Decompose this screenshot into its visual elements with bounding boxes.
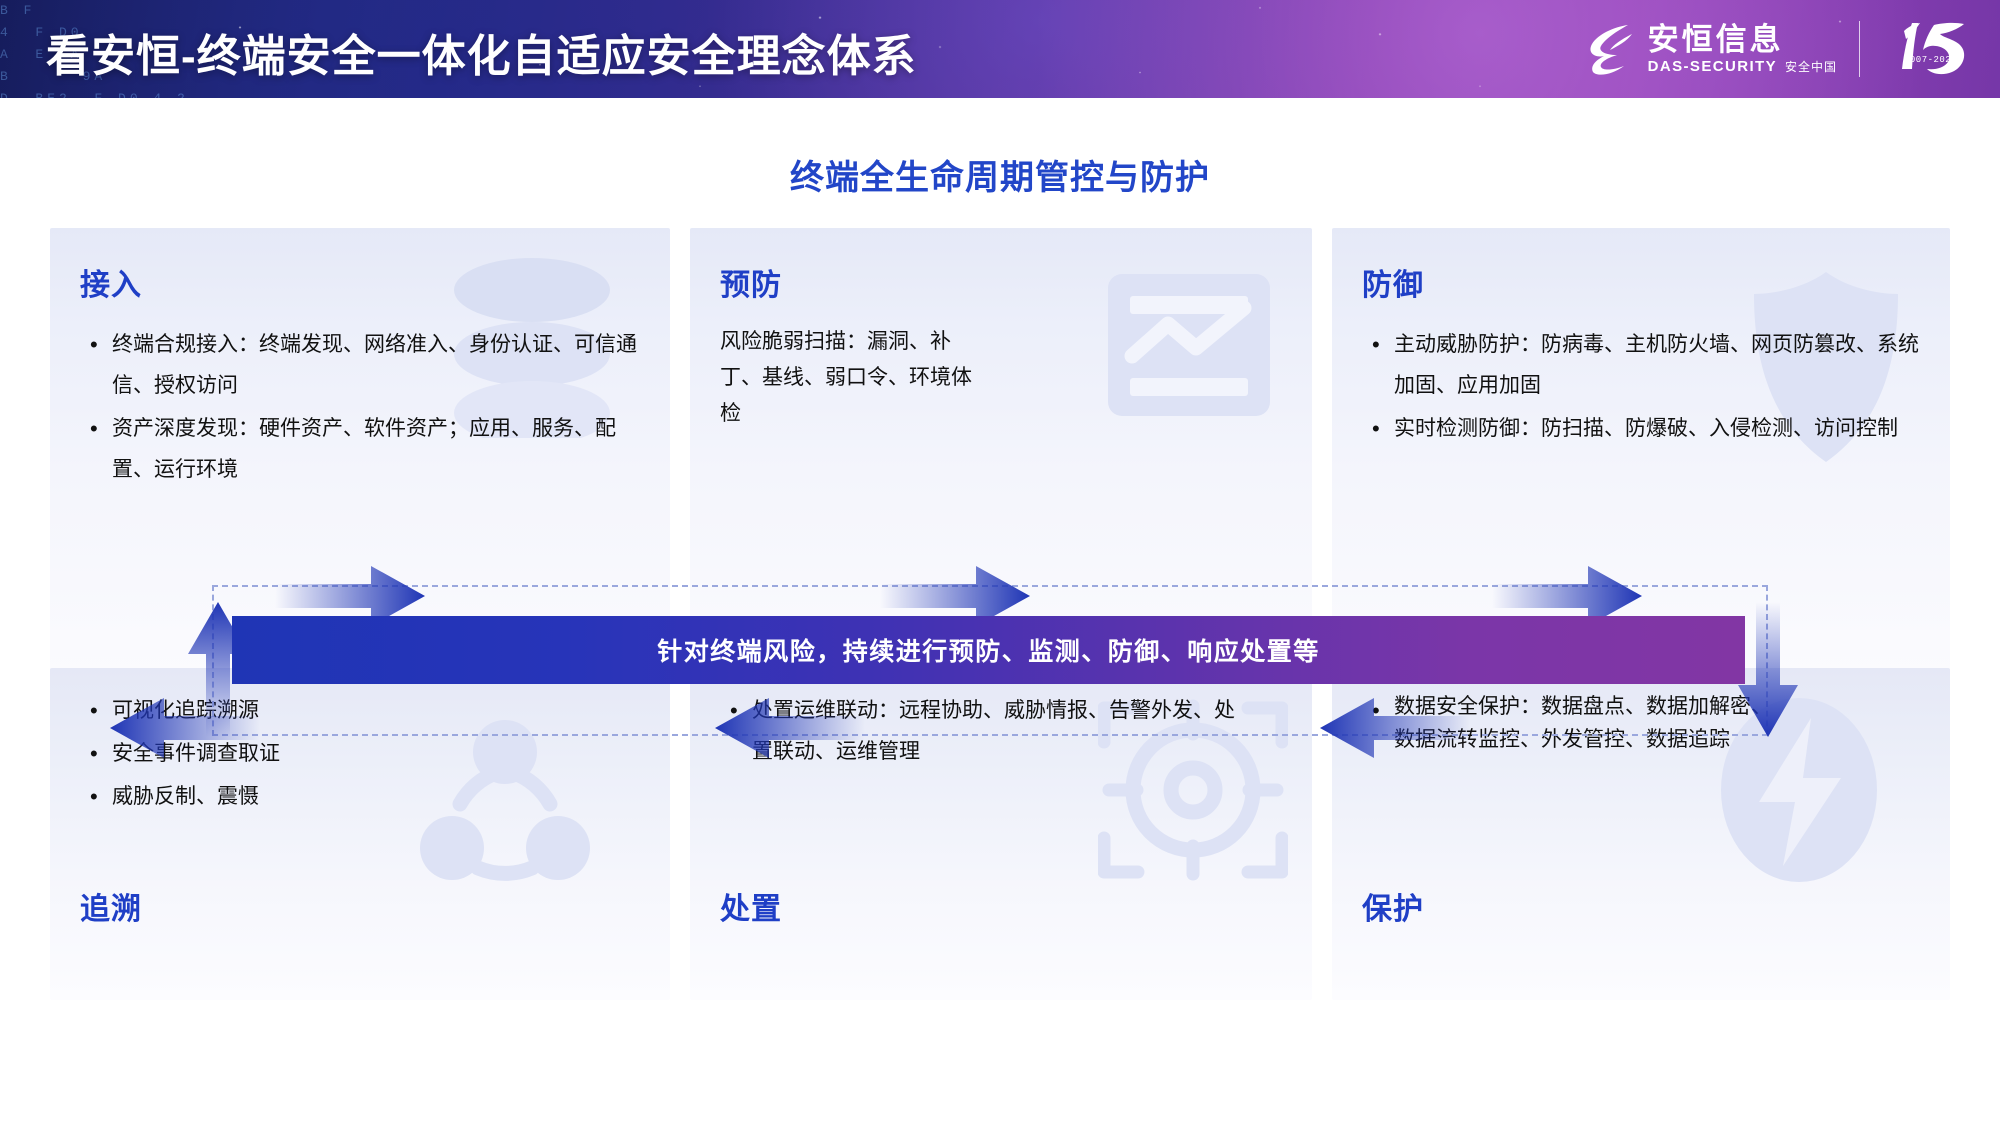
15th-anniversary-icon <box>1882 17 1978 81</box>
brand-logo: 安恒信息 DAS-SECURITY 安全中国 2007-2022 <box>1584 14 1978 84</box>
list-item: 终端合规接入：终端发现、网络准入、身份认证、可信通信、授权访问 <box>68 324 646 406</box>
arrow-left-bottom-2 <box>715 698 865 758</box>
page-title: 看安恒-终端安全一体化自适应安全理念体系 <box>46 20 917 84</box>
das-swirl-logo-icon <box>1584 20 1638 78</box>
continuous-process-banner: 针对终端风险，持续进行预防、监测、防御、响应处置等 <box>232 616 1745 684</box>
list-item: 资产深度发现：硬件资产、软件资产；应用、服务、配置、运行环境 <box>68 408 646 490</box>
card-bullets-defense: 主动威胁防护：防病毒、主机防火墙、网页防篡改、系统加固、应用加固 实时检测防御：… <box>1350 324 1934 451</box>
brand-slogan: 安全中国 <box>1785 58 1837 75</box>
anniversary-badge: 2007-2022 <box>1882 17 1978 81</box>
card-text-prevention: 风险脆弱扫描：漏洞、补丁、基线、弱口令、环境体检 <box>720 324 985 432</box>
logo-divider <box>1859 21 1860 77</box>
list-item: 实时检测防御：防扫描、防爆破、入侵检测、访问控制 <box>1350 408 1934 449</box>
card-heading-traceback: 追溯 <box>80 884 142 928</box>
card-heading-disposal: 处置 <box>720 884 782 928</box>
banner-label: 针对终端风险，持续进行预防、监测、防御、响应处置等 <box>657 632 1320 668</box>
brand-name-cn: 安恒信息 <box>1648 23 1837 57</box>
arrow-left-bottom-3 <box>110 698 260 758</box>
card-bullets-access: 终端合规接入：终端发现、网络准入、身份认证、可信通信、授权访问 资产深度发现：硬… <box>68 324 646 492</box>
card-heading-prevention: 预防 <box>720 260 782 304</box>
anniversary-years: 2007-2022 <box>1904 55 1957 65</box>
section-title: 终端全生命周期管控与防护 <box>0 150 2000 199</box>
arrow-left-bottom-1 <box>1320 698 1470 758</box>
slide-bottom-margin <box>0 1000 2000 1125</box>
list-item: 威胁反制、震慑 <box>68 776 646 817</box>
list-item: 主动威胁防护：防病毒、主机防火墙、网页防篡改、系统加固、应用加固 <box>1350 324 1934 406</box>
card-heading-protection: 保护 <box>1362 884 1424 928</box>
card-heading-access: 接入 <box>80 260 142 304</box>
page-header: B F 4 F D0 A E A B 9A D BE2 F D0 4 2 6 4… <box>0 0 2000 98</box>
arrow-down-right <box>1738 602 1798 737</box>
brand-subline: DAS-SECURITY 安全中国 <box>1648 58 1837 75</box>
brand-logo-text: 安恒信息 DAS-SECURITY 安全中国 <box>1648 23 1837 75</box>
card-heading-defense: 防御 <box>1362 260 1424 304</box>
brand-name-en: DAS-SECURITY <box>1648 58 1777 75</box>
